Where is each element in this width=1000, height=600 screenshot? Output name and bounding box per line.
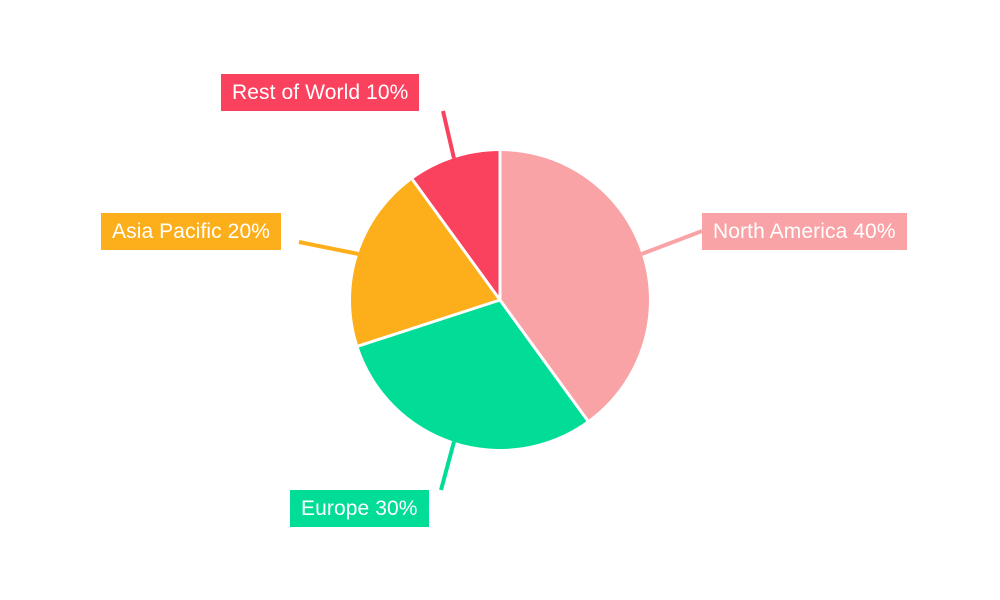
pie-label-rest-of-world[interactable]: Rest of World 10% [221, 74, 419, 111]
leader-line-rest-of-world [443, 111, 454, 158]
leader-line-europe [441, 442, 454, 490]
leader-line-north-america [642, 231, 702, 254]
pie-label-asia-pacific[interactable]: Asia Pacific 20% [101, 213, 281, 250]
pie-label-north-america[interactable]: North America 40% [702, 213, 907, 250]
pie-chart-canvas [0, 0, 1000, 600]
pie-label-europe[interactable]: Europe 30% [290, 490, 429, 527]
pie-chart: North America 40% Europe 30% Asia Pacifi… [0, 0, 1000, 600]
leader-line-asia-pacific [299, 242, 358, 254]
